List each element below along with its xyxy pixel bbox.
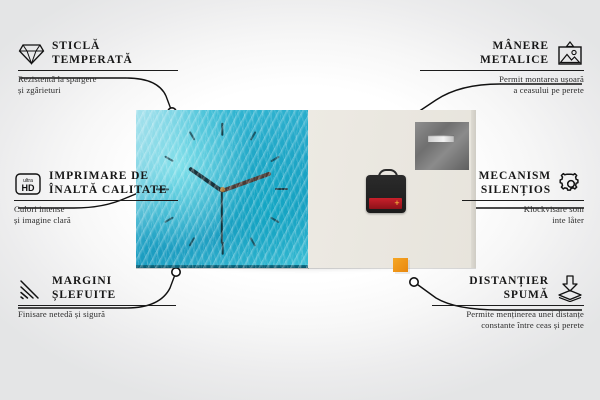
battery: + (369, 198, 402, 209)
callout-rule (432, 305, 584, 306)
callout-title: MÂNEREMETALICE (480, 40, 549, 67)
clock-tick (188, 131, 195, 141)
callout-tempered-glass: STICLĂTEMPERATĂ Rezistentă la spargereși… (18, 40, 178, 96)
callout-subtitle: Finisare netedă și sigură (18, 309, 178, 320)
callout-header: MECANISMSILENȚIOS (462, 170, 584, 197)
gear-icon (558, 171, 584, 197)
callout-rule (14, 200, 178, 201)
callout-subtitle: Klockvisare sominte låter (462, 204, 584, 226)
callout-title: MARGINIȘLEFUITE (52, 275, 116, 302)
clock-hour-hand (188, 166, 223, 192)
callout-subtitle: Culori intenseși imagine clară (14, 204, 182, 226)
svg-text:HD: HD (22, 183, 35, 193)
clock-tick (275, 188, 288, 190)
clock-center-pin (220, 187, 225, 192)
clock-tick (164, 155, 174, 162)
callout-rule (462, 200, 584, 201)
clock-tick (249, 131, 256, 141)
callout-metal-hangers: MÂNEREMETALICE Permit montarea ușoarăa c… (420, 40, 584, 96)
diamond-icon (18, 43, 45, 65)
callout-title: MECANISMSILENȚIOS (479, 170, 551, 197)
callout-subtitle: Permite menținerea unei distanțeconstant… (432, 309, 584, 331)
callout-rule (420, 70, 584, 71)
clock-tick (221, 242, 223, 255)
foam-spacer-pad (393, 258, 408, 272)
clock-tick (270, 155, 280, 162)
callout-foam-spacer: DISTANȚIERSPUMĂ Permite menținerea unei … (432, 275, 584, 331)
clock-tick (270, 216, 280, 223)
callout-hd-print: ultra HD IMPRIMARE DEÎNALTĂ CALITATE Cul… (14, 170, 182, 226)
picture-frame-icon (556, 41, 584, 67)
callout-silent-mechanism: MECANISMSILENȚIOS Klockvisare sominte lå… (462, 170, 584, 226)
callout-subtitle: Rezistentă la spargereși zgârieturi (18, 74, 178, 96)
callout-header: MARGINIȘLEFUITE (18, 275, 178, 302)
clock-tick (221, 123, 223, 136)
callout-polished-edges: MARGINIȘLEFUITE Finisare netedă și sigur… (18, 275, 178, 320)
hanger-slot (428, 135, 454, 142)
clock-minute-hand (221, 171, 271, 192)
clock-tick (188, 237, 195, 247)
product-image: + (136, 110, 476, 268)
clock-tick (249, 237, 256, 247)
wire-dot-foam-spacer (410, 278, 418, 286)
metal-hanger-plate (415, 122, 469, 170)
clock-second-hand (221, 190, 223, 244)
diagonal-lines-icon (18, 278, 45, 300)
clock-bottom-rim (136, 265, 308, 268)
infographic-canvas: + STICLĂTEMPERATĂ Rezistentă la spargere… (0, 0, 600, 400)
callout-title: DISTANȚIERSPUMĂ (469, 275, 549, 302)
press-down-icon (556, 275, 584, 302)
callout-rule (18, 305, 176, 306)
callout-header: DISTANȚIERSPUMĂ (432, 275, 584, 302)
callout-header: STICLĂTEMPERATĂ (18, 40, 178, 67)
ultra-hd-icon: ultra HD (14, 172, 42, 196)
movement-hook (378, 169, 398, 180)
callout-header: MÂNEREMETALICE (420, 40, 584, 67)
clock-back-panel: + (308, 110, 476, 268)
callout-subtitle: Permit montarea ușoarăa ceasului pe pere… (420, 74, 584, 96)
battery-plus-icon: + (394, 199, 400, 207)
callout-title: STICLĂTEMPERATĂ (52, 40, 133, 67)
callout-header: ultra HD IMPRIMARE DEÎNALTĂ CALITATE (14, 170, 182, 197)
clock-movement: + (366, 175, 406, 213)
callout-rule (18, 70, 178, 71)
callout-title: IMPRIMARE DEÎNALTĂ CALITATE (49, 170, 167, 197)
